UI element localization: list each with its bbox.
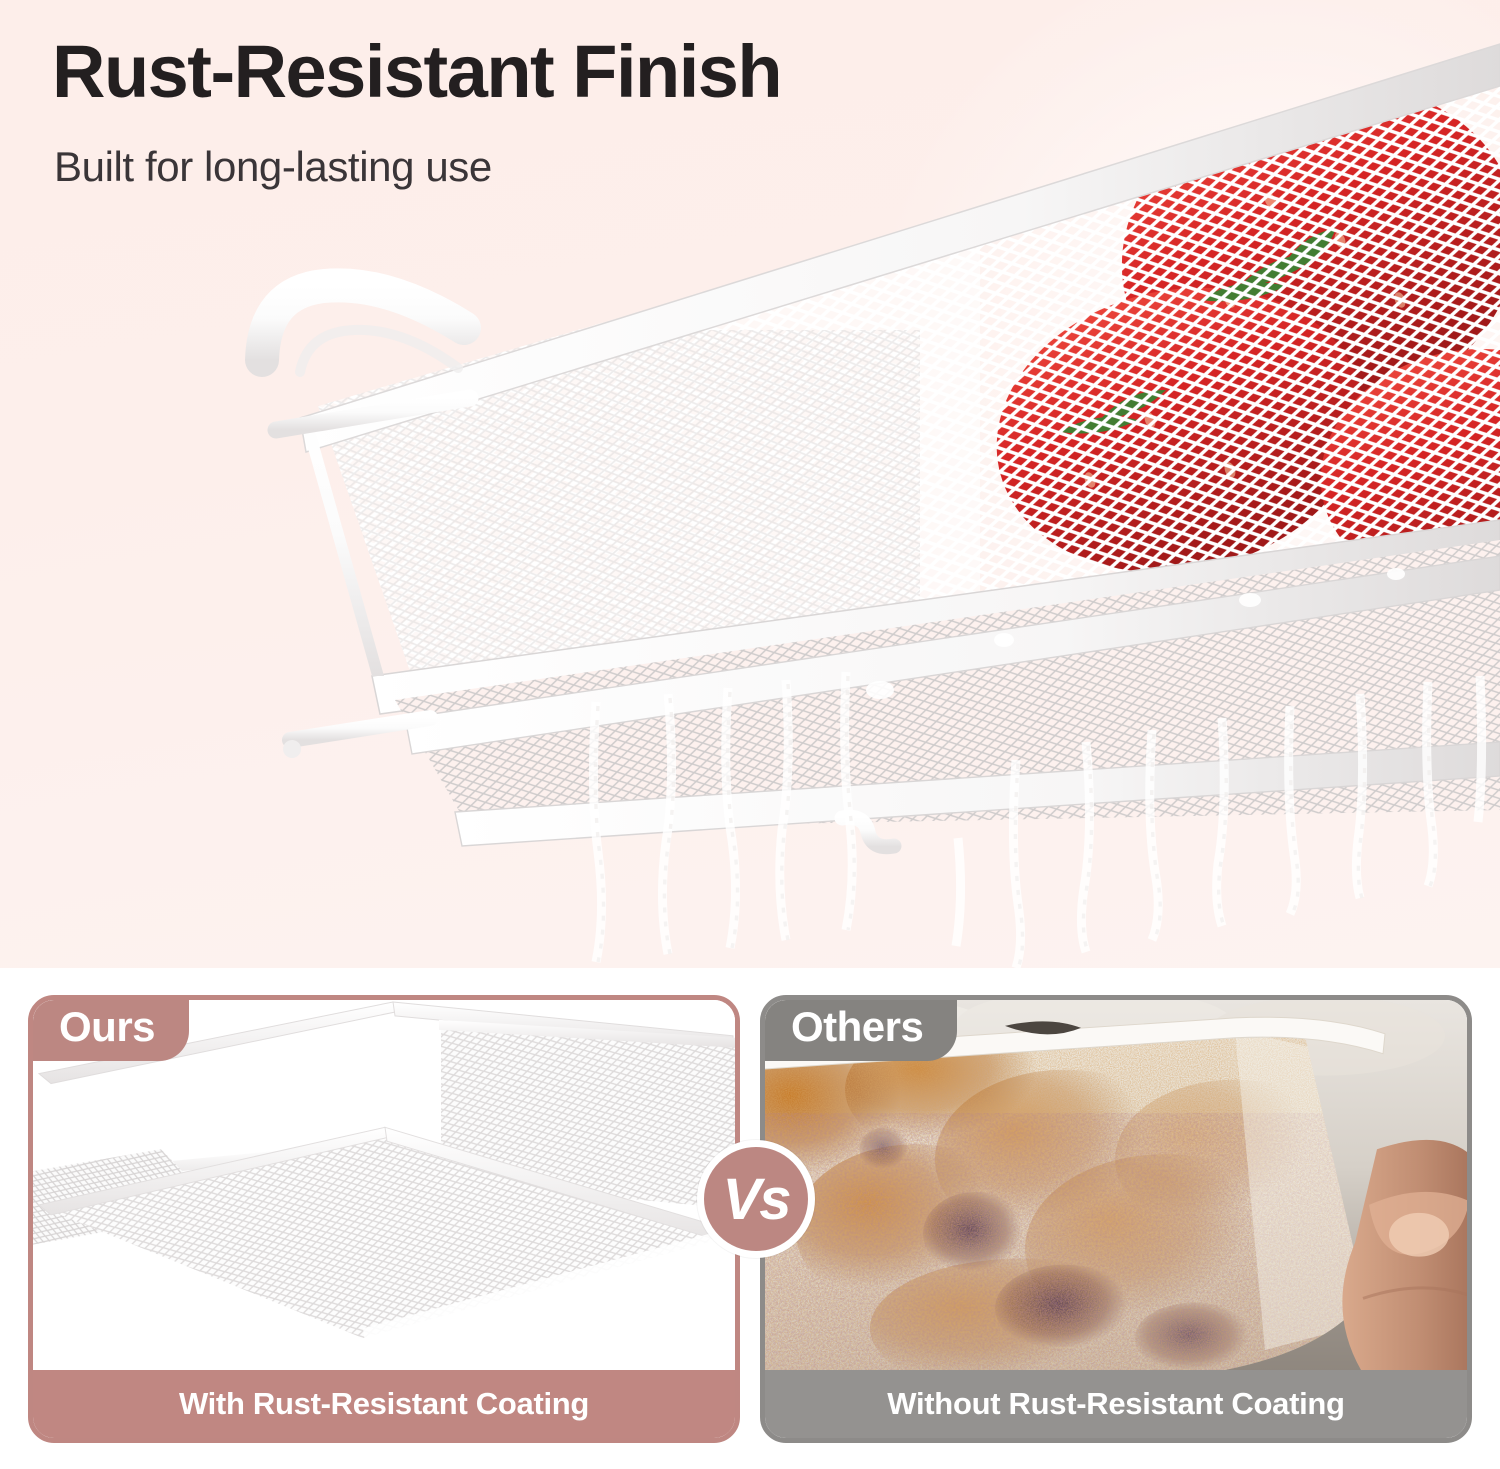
ours-badge: Ours (29, 996, 189, 1061)
others-badge: Others (761, 996, 957, 1061)
hero-section: Rust-Resistant Finish Built for long-las… (0, 0, 1500, 968)
others-caption: Without Rust-Resistant Coating (765, 1370, 1467, 1438)
ours-caption: With Rust-Resistant Coating (33, 1370, 735, 1438)
page-title: Rust-Resistant Finish (52, 34, 781, 109)
vs-badge: Vs (697, 1140, 815, 1258)
comparison-panel-ours: Ours With Rust-Resistant Coating (28, 995, 740, 1443)
page-subtitle: Built for long-lasting use (54, 143, 492, 191)
comparison-panel-others: Others Without Rust-Resistant Coating (760, 995, 1472, 1443)
